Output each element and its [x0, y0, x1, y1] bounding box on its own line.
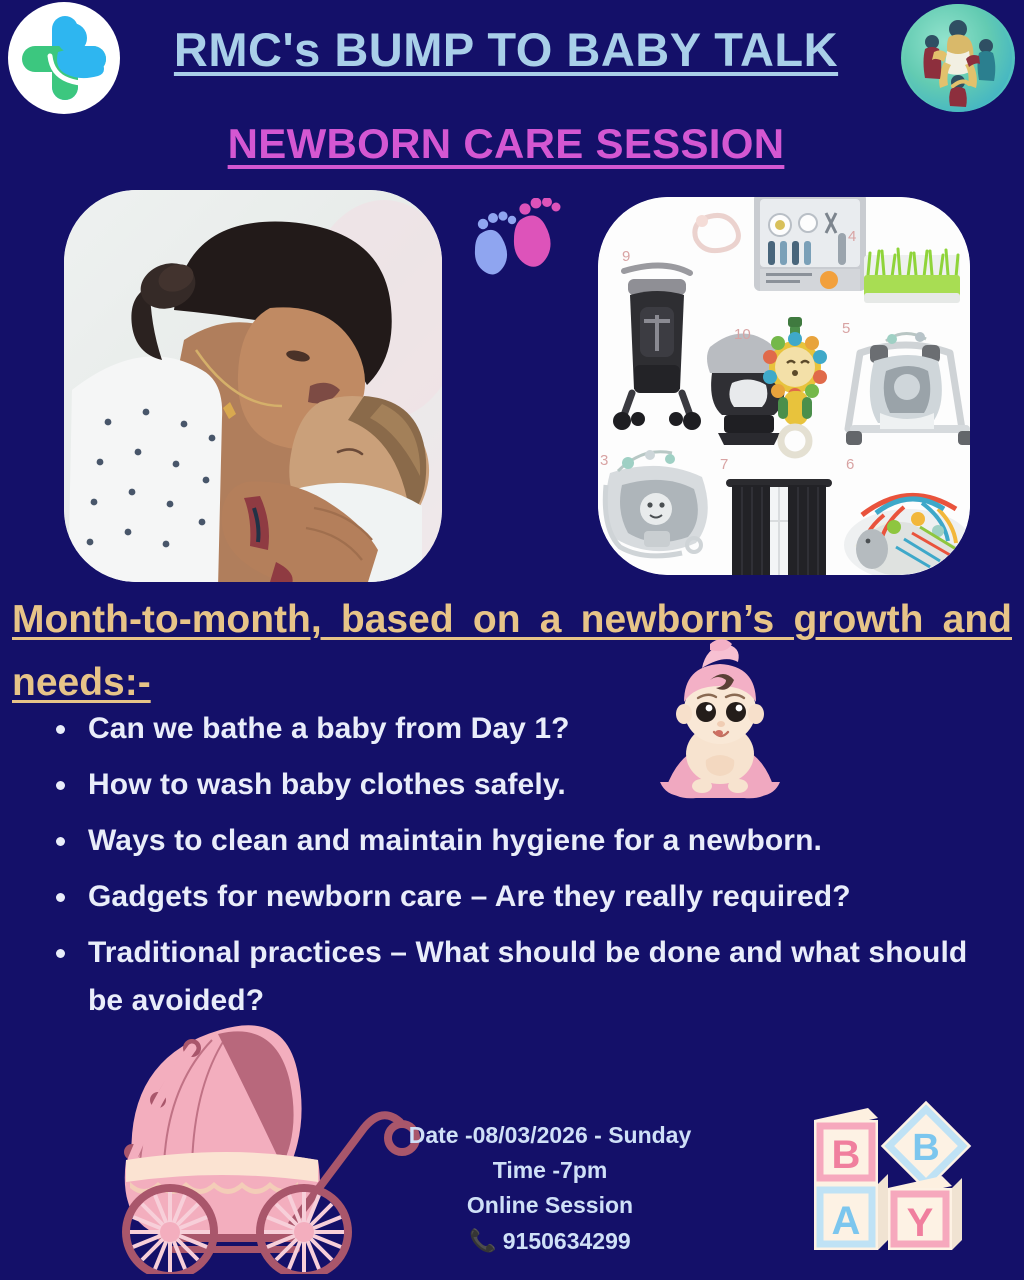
poster-header: RMC's BUMP TO BABY TALK NEWBORN CARE SES… — [0, 0, 1024, 180]
product-number-9: 9 — [622, 248, 630, 265]
mother-baby-photo — [64, 190, 442, 582]
block-b2: A — [814, 1174, 888, 1250]
product-number-3: 3 — [600, 452, 608, 469]
baby-blocks-icon: B A B Y — [800, 1098, 1012, 1278]
session-time: Time -7pm — [340, 1153, 760, 1188]
product-number-10: 10 — [734, 326, 751, 343]
poster-subtitle: NEWBORN CARE SESSION — [120, 120, 892, 168]
list-item: Can we bathe a baby from Day 1? — [46, 705, 976, 753]
list-item: Traditional practices – What should be d… — [46, 929, 976, 1025]
list-item: Gadgets for newborn care – Are they real… — [46, 873, 976, 921]
block-letter: A — [832, 1199, 861, 1243]
topics-list: Can we bathe a baby from Day 1? How to w… — [46, 705, 976, 1033]
poster-title: RMC's BUMP TO BABY TALK — [120, 22, 892, 77]
clinic-logo-icon — [14, 8, 114, 108]
product-number-7: 7 — [720, 456, 728, 473]
newborn-gadgets-photo: 9 — [598, 197, 970, 575]
mother-baby-illustration — [64, 190, 442, 582]
block-b1: B — [814, 1108, 878, 1184]
block-y: Y — [888, 1176, 962, 1250]
block-letter: B — [832, 1133, 861, 1177]
contact-phone[interactable]: 📞 9150634299 — [340, 1224, 760, 1259]
session-details: Date -08/03/2026 - Sunday Time -7pm Onli… — [340, 1118, 760, 1259]
footprints-svg — [470, 198, 562, 280]
poster-root: RMC's BUMP TO BABY TALK NEWBORN CARE SES… — [0, 0, 1024, 1280]
gadgets-grid-illustration: 9 — [598, 197, 970, 575]
product-number-4: 4 — [848, 228, 856, 245]
session-date: Date -08/03/2026 - Sunday — [340, 1118, 760, 1153]
product-number-6: 6 — [846, 456, 854, 473]
baby-blocks-svg: B A B Y — [800, 1098, 1012, 1278]
session-mode: Online Session — [340, 1188, 760, 1223]
phone-icon: 📞 — [469, 1224, 496, 1258]
family-emblem-logo — [901, 4, 1015, 112]
block-letter: B — [912, 1127, 939, 1169]
list-item: Ways to clean and maintain hygiene for a… — [46, 817, 976, 865]
block-letter: Y — [907, 1201, 934, 1245]
baby-footprints-icon — [470, 198, 562, 280]
rmc-clinic-logo — [8, 2, 120, 114]
family-emblem-icon — [901, 4, 1015, 112]
phone-number: 9150634299 — [503, 1224, 631, 1259]
list-item: How to wash baby clothes safely. — [46, 761, 976, 809]
product-number-5: 5 — [842, 320, 850, 337]
